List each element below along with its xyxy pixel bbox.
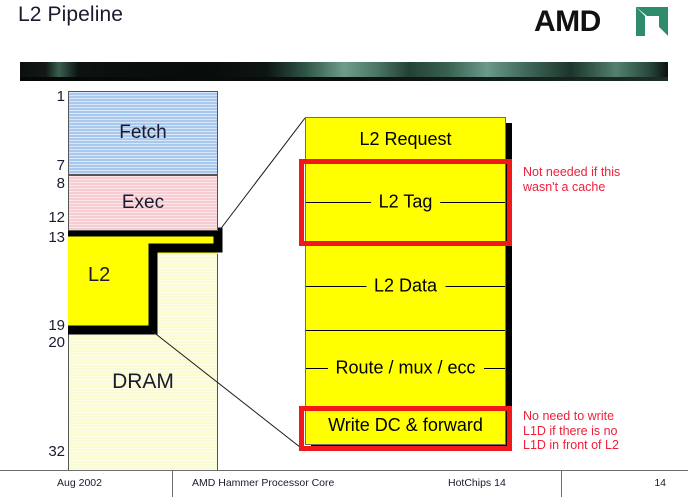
decorative-banner-bar: [20, 62, 668, 77]
detail-row-write-dc-forward: Write DC & forward: [306, 406, 505, 444]
detail-row-l2-data-label: L2 Data: [366, 276, 445, 297]
detail-row-l2-tag-label: L2 Tag: [371, 192, 441, 213]
footer-page-number: 14: [654, 477, 666, 489]
detail-row-write-dc-forward-label: Write DC & forward: [328, 415, 483, 436]
detail-row-l2-data: L2 Data: [306, 244, 505, 330]
detail-row-route-mux-ecc-label: Route / mux / ecc: [327, 358, 483, 379]
detail-row-l2-tag: L2 Tag: [306, 160, 505, 244]
svg-text:AMD: AMD: [534, 5, 601, 38]
cycle-tick-8: 8: [39, 175, 65, 192]
pipeline-stage-dram-label: DRAM: [112, 370, 174, 394]
pipeline-stage-fetch: Fetch: [68, 91, 218, 175]
detail-row-l2-request: L2 Request: [306, 118, 505, 160]
footer-subject: AMD Hammer Processor Core: [192, 477, 334, 489]
slide-footer: Aug 2002 AMD Hammer Processor Core HotCh…: [0, 470, 688, 497]
footer-date: Aug 2002: [57, 477, 102, 489]
cycle-tick-13: 13: [39, 229, 65, 246]
footer-event: HotChips 14: [448, 477, 506, 489]
detail-row-l2-request-label: L2 Request: [359, 129, 451, 150]
amd-arrow-logo: AMD: [534, 5, 670, 39]
detail-row-route-mux-ecc: Route / mux / ecc: [306, 330, 505, 406]
pipeline-stage-fetch-label: Fetch: [119, 122, 167, 144]
pipeline-stage-exec-label: Exec: [122, 192, 164, 214]
cycle-tick-7: 7: [39, 157, 65, 174]
cycle-tick-12: 12: [39, 209, 65, 226]
pipeline-stage-l2-label: L2: [88, 264, 110, 287]
cycle-tick-19: 19: [39, 317, 65, 334]
cycle-tick-1: 1: [39, 88, 65, 105]
detail-column: L2 Request L2 Tag L2 Data Route / mux / …: [305, 117, 506, 445]
pipeline-stage-exec: Exec: [68, 175, 218, 231]
page-title: L2 Pipeline: [18, 3, 123, 27]
cycle-tick-32: 32: [39, 443, 65, 460]
footer-divider-left: [172, 471, 173, 497]
cycle-tick-20: 20: [39, 334, 65, 351]
annotation-not-needed-if-not-cache: Not needed if this wasn't a cache: [523, 165, 620, 194]
footer-divider-right: [561, 471, 562, 497]
annotation-no-need-to-write-l1d: No need to write L1D if there is no L1D …: [523, 409, 619, 453]
